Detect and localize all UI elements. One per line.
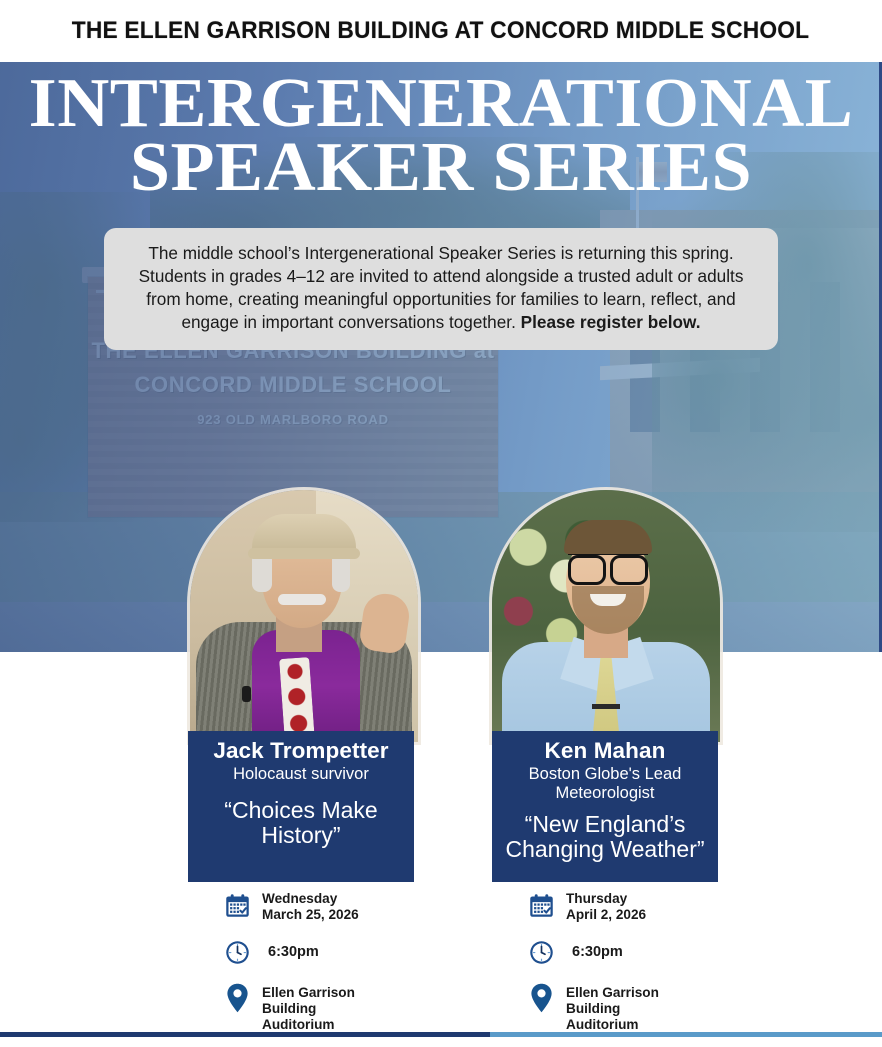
detail-row-time: 6:30pm — [492, 937, 718, 967]
footer-bar-navy — [0, 1032, 490, 1037]
detail-location-line-3: Auditorium — [566, 1017, 659, 1033]
calendar-icon — [526, 890, 556, 920]
speaker-card-ken-mahan: Ken Mahan Boston Globe's Lead Meteorolog… — [492, 731, 718, 882]
detail-date-full: April 2, 2026 — [566, 907, 646, 923]
detail-date: Wednesday March 25, 2026 — [262, 890, 359, 923]
detail-date-full: March 25, 2026 — [262, 907, 359, 923]
detail-time: 6:30pm — [566, 937, 623, 961]
detail-date-day: Wednesday — [262, 891, 359, 907]
location-pin-icon — [526, 983, 556, 1013]
detail-location-line-3: Auditorium — [262, 1017, 355, 1033]
event-title-line-1: INTERGENERATIONAL — [0, 72, 882, 136]
speaker-talk-title: “Choices Make History” — [188, 798, 414, 849]
detail-row-time: 6:30pm — [188, 937, 414, 967]
detail-location-line-2: Building — [566, 1001, 659, 1017]
detail-row-date: Thursday April 2, 2026 — [492, 890, 718, 923]
calendar-icon — [222, 890, 252, 920]
detail-row-location: Ellen Garrison Building Auditorium — [492, 983, 718, 1033]
event-title-line-2: SPEAKER SERIES — [0, 136, 882, 200]
page-title: THE ELLEN GARRISON BUILDING AT CONCORD M… — [72, 17, 810, 45]
description-cta: Please register below. — [521, 312, 701, 332]
detail-row-date: Wednesday March 25, 2026 — [188, 890, 414, 923]
clock-icon — [526, 937, 556, 967]
speaker-details-ken-mahan: Thursday April 2, 2026 6:30pm — [492, 890, 718, 1047]
speaker-photo-ken-mahan — [492, 490, 720, 742]
description-box: The middle school’s Intergenerational Sp… — [104, 228, 778, 350]
detail-location: Ellen Garrison Building Auditorium — [262, 983, 355, 1033]
location-pin-icon — [222, 983, 252, 1013]
speaker-card-jack-trompetter: Jack Trompetter Holocaust survivor “Choi… — [188, 731, 414, 882]
detail-date-day: Thursday — [566, 891, 646, 907]
speaker-role: Holocaust survivor — [188, 765, 414, 783]
clock-icon — [222, 937, 252, 967]
speaker-name: Jack Trompetter — [188, 738, 414, 763]
detail-time: 6:30pm — [262, 937, 319, 961]
detail-date: Thursday April 2, 2026 — [566, 890, 646, 923]
speaker-name: Ken Mahan — [492, 738, 718, 763]
page-header: THE ELLEN GARRISON BUILDING AT CONCORD M… — [0, 0, 882, 62]
event-title: INTERGENERATIONAL SPEAKER SERIES — [0, 72, 882, 201]
detail-location-line-1: Ellen Garrison — [566, 985, 659, 1001]
speaker-talk-title: “New England’s Changing Weather” — [492, 812, 718, 863]
speaker-role: Boston Globe's Lead Meteorologist — [492, 765, 718, 802]
detail-location-line-2: Building — [262, 1001, 355, 1017]
speaker-details-jack-trompetter: Wednesday March 25, 2026 6:30pm — [188, 890, 414, 1047]
speaker-photo-jack-trompetter — [190, 490, 418, 742]
detail-location: Ellen Garrison Building Auditorium — [566, 983, 659, 1033]
footer-bar-light-blue — [490, 1032, 882, 1037]
detail-row-location: Ellen Garrison Building Auditorium — [188, 983, 414, 1033]
detail-location-line-1: Ellen Garrison — [262, 985, 355, 1001]
